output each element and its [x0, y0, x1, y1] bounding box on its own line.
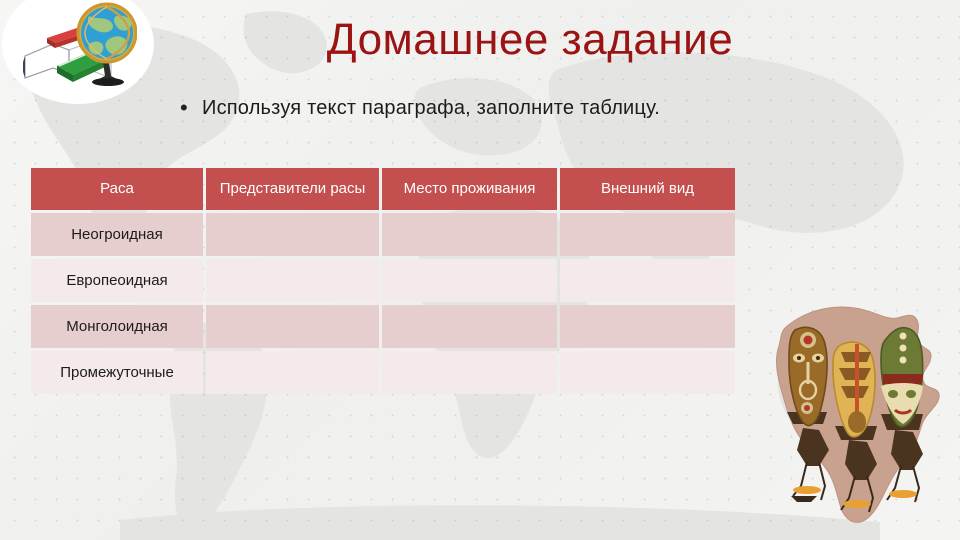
row-label-negroid: Неогроидная	[31, 213, 203, 256]
cell-appearance[interactable]	[560, 213, 735, 256]
africa-masks-illustration	[745, 290, 960, 540]
slide-canvas: Домашнее задание • Используя текст параг…	[0, 0, 960, 540]
column-header-appearance: Внешний вид	[560, 168, 735, 210]
row-label-intermediate: Промежуточные	[31, 351, 203, 394]
bullet-item: • Используя текст параграфа, заполните т…	[180, 95, 920, 121]
cell-members[interactable]	[206, 213, 379, 256]
row-label-caucasoid: Европеоидная	[31, 259, 203, 302]
column-header-race: Раса	[31, 168, 203, 210]
column-header-members: Представители расы	[206, 168, 379, 210]
bullet-text: Используя текст параграфа, заполните таб…	[202, 95, 660, 121]
table-header-row: Раса Представители расы Место проживания…	[31, 168, 735, 210]
cell-location[interactable]	[382, 305, 557, 348]
cell-location[interactable]	[382, 351, 557, 394]
table-row: Неогроидная	[31, 213, 735, 256]
cell-members[interactable]	[206, 351, 379, 394]
table-row: Европеоидная	[31, 259, 735, 302]
table-row: Промежуточные	[31, 351, 735, 394]
cell-members[interactable]	[206, 259, 379, 302]
row-label-mongoloid: Монголоидная	[31, 305, 203, 348]
column-header-location: Место проживания	[382, 168, 557, 210]
page-title: Домашнее задание	[180, 16, 880, 64]
races-table: Раса Представители расы Место проживания…	[28, 165, 738, 397]
table-row: Монголоидная	[31, 305, 735, 348]
cell-location[interactable]	[382, 259, 557, 302]
cell-location[interactable]	[382, 213, 557, 256]
bullet-marker-icon: •	[180, 95, 202, 121]
cell-appearance[interactable]	[560, 259, 735, 302]
emblem-badge	[2, 0, 154, 104]
cell-members[interactable]	[206, 305, 379, 348]
cell-appearance[interactable]	[560, 305, 735, 348]
cell-appearance[interactable]	[560, 351, 735, 394]
